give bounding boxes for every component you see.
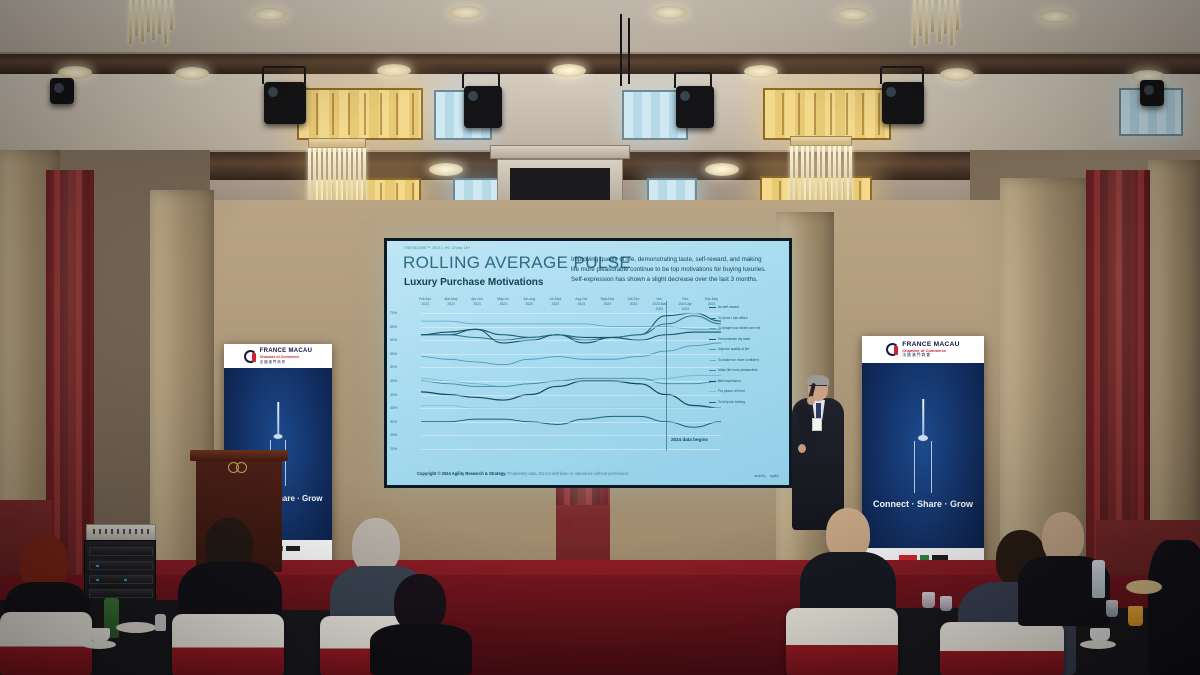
chart-gridline <box>421 327 721 328</box>
cci-logo-icon <box>886 343 899 356</box>
legend-swatch <box>709 328 716 329</box>
chart-y-tick: 45% <box>390 379 397 383</box>
logo-mark-text: amplify <box>754 474 765 478</box>
chart-x-tick: Oct-Dec2023 <box>619 297 647 307</box>
chair <box>0 612 92 675</box>
downlight <box>1038 10 1072 23</box>
slide-subtitle: Luxury Purchase Motivations <box>404 277 543 288</box>
bread-basket <box>1126 580 1162 594</box>
stage-light[interactable] <box>1140 80 1164 106</box>
banner-org-chinese: 法國澳門商會 <box>260 359 313 364</box>
drinking-glass <box>940 596 952 611</box>
water-bottle <box>1092 560 1105 598</box>
legend-item: Self-expression <box>709 379 775 383</box>
ceiling-light-panel <box>297 88 423 140</box>
downlight <box>552 64 586 77</box>
plate <box>116 622 156 633</box>
chart: Feb-Apr2023Mar-May2023Apr-Jun2023May-Jul… <box>405 297 721 449</box>
legend-label: Demonstrate my taste <box>718 337 750 341</box>
projection-screen: TRENDZINE™ 2024 | HG China 18+ ROLLING A… <box>384 238 792 488</box>
slide-summary-text: Improving quality of life, demonstrating… <box>571 255 769 285</box>
stage-light[interactable] <box>264 82 306 124</box>
audio-mixer[interactable] <box>86 524 156 541</box>
chart-y-tick: 40% <box>390 393 397 397</box>
chart-x-tick: Jun-Aug2023 <box>515 297 543 307</box>
podium-top <box>190 450 288 461</box>
chart-gridline <box>421 449 721 450</box>
chandelier-canopy <box>308 138 366 148</box>
sponsor-logo <box>286 546 300 551</box>
downlight <box>429 163 463 176</box>
stage-light[interactable] <box>50 78 74 104</box>
chart-x-tick: Mar-May2023 <box>437 297 465 307</box>
legend-label: Make life more pleasurable <box>718 368 758 372</box>
legend-label: Improve quality of life <box>718 347 749 351</box>
chart-x-tick: Aug-Oct2023 <box>567 297 595 307</box>
chart-gridline <box>421 422 721 423</box>
legend-label: To show I can afford <box>718 316 747 320</box>
downlight <box>653 6 687 19</box>
chart-x-tick: Jul-Sept2023 <box>541 297 569 307</box>
chandelier-canopy <box>790 136 852 146</box>
legend-swatch <box>709 360 716 361</box>
legend-item: To make me more confident <box>709 358 775 362</box>
legend-swatch <box>709 370 716 371</box>
stage-light[interactable] <box>676 86 714 128</box>
banner-right: FRANCE MACAU Chamber of Commerce 法國澳門商會 … <box>862 336 984 586</box>
downlight <box>253 8 287 21</box>
legend-swatch <box>709 349 716 350</box>
slide-eyebrow: TRENDZINE™ 2024 | HG China 18+ <box>404 246 470 250</box>
chart-x-tick: Feb-Apr2023 <box>411 297 439 307</box>
chart-gridline <box>421 381 721 382</box>
downlight <box>836 8 870 21</box>
chart-x-tick: Sept-Nov2023 <box>593 297 621 307</box>
chart-gridline <box>421 354 721 355</box>
legend-label: As self-reward <box>718 305 739 309</box>
banner-org-block: FRANCE MACAU Chamber of Commerce 法國澳門商會 <box>902 341 959 358</box>
audience-head <box>1042 512 1084 562</box>
downlight <box>744 65 778 78</box>
chart-gridline <box>421 367 721 368</box>
slide-content: TRENDZINE™ 2024 | HG China 18+ ROLLING A… <box>387 241 789 485</box>
chart-x-tick: Dec2023-Apr2024 <box>671 297 699 311</box>
chart-gridline <box>421 395 721 396</box>
drinking-glass <box>922 592 935 608</box>
downlight <box>449 6 483 19</box>
chart-y-tick: 25% <box>390 433 397 437</box>
stage-light[interactable] <box>464 86 502 128</box>
legend-swatch <box>709 402 716 403</box>
saucer <box>82 640 116 649</box>
banner-tagline: Connect · Share · Grow <box>862 499 984 509</box>
legend-label: Self-expression <box>718 379 741 383</box>
chart-x-tick: Nov2023-Mar2024 <box>645 297 673 311</box>
legend-item: For peace of mind <box>709 389 775 393</box>
slide-logo: amplify agility <box>754 474 779 478</box>
downlight <box>705 163 739 176</box>
chart-y-tick: 20% <box>390 447 397 451</box>
chart-y-tick: 70% <box>390 311 397 315</box>
chart-y-tick: 35% <box>390 406 397 410</box>
chandelier <box>129 0 173 44</box>
legend-swatch <box>709 339 716 340</box>
chart-series-line <box>421 378 721 386</box>
banner-org-block: FRANCE MACAU Chamber of Commerce 法國澳門商會 <box>260 348 313 364</box>
logo-text: agility <box>770 474 779 478</box>
legend-item: Demonstrate my taste <box>709 337 775 341</box>
legend-item: Make life more pleasurable <box>709 368 775 372</box>
banner-artwork: Connect · Share · Grow <box>862 363 984 586</box>
chair <box>786 608 898 675</box>
chart-x-axis-labels: Feb-Apr2023Mar-May2023Apr-Jun2023May-Jul… <box>405 297 721 313</box>
chart-y-tick: 50% <box>390 365 397 369</box>
drinking-glass <box>1106 600 1118 617</box>
chart-gridline <box>421 340 721 341</box>
projector-mount <box>490 145 630 159</box>
chart-y-tick: 60% <box>390 338 397 342</box>
chandelier-crystals <box>913 0 959 46</box>
chart-gridline <box>421 313 721 314</box>
legend-label: To help me belong <box>718 400 745 404</box>
ceiling-slab <box>0 74 1200 152</box>
banner-header: FRANCE MACAU Chamber of Commerce 法國澳門商會 <box>224 344 332 368</box>
legend-item: To show I can afford <box>709 316 775 320</box>
chart-y-tick: 55% <box>390 352 397 356</box>
chart-legend: As self-rewardTo show I can affordTo sha… <box>709 305 775 410</box>
copyright-rest: Proprietary data. Do not distribute or r… <box>506 471 629 476</box>
banner-header: FRANCE MACAU Chamber of Commerce 法國澳門商會 <box>862 336 984 363</box>
speaker-hand <box>807 396 815 405</box>
chart-divider-line <box>666 301 667 451</box>
conference-room-photo: TRENDZINE™ 2024 | HG China 18+ ROLLING A… <box>0 0 1200 675</box>
downlight <box>175 67 209 80</box>
legend-label: To shape how others see me <box>718 326 760 330</box>
slide-copyright: Copyright © 2024 Agility Research & Stra… <box>417 471 629 476</box>
banner-org-chinese: 法國澳門商會 <box>902 353 959 358</box>
legend-item: Improve quality of life <box>709 347 775 351</box>
podium-emblem-icon <box>228 462 250 473</box>
legend-swatch <box>709 307 716 308</box>
chart-x-tick: Apr-Jun2023 <box>463 297 491 307</box>
audience-torso <box>1148 540 1200 675</box>
chart-gridline <box>421 408 721 409</box>
chair <box>172 614 284 675</box>
chart-annotation: 2024 data begins <box>671 437 708 442</box>
cci-logo-icon <box>244 350 257 363</box>
stage-light[interactable] <box>882 82 924 124</box>
juice-glass <box>1128 606 1143 626</box>
ceiling-light-panel <box>763 88 891 140</box>
copyright-bold: Copyright © 2024 Agility Research & Stra… <box>417 471 506 476</box>
chart-plot-area: 2024 data begins <box>421 313 721 449</box>
saucer <box>1080 640 1116 649</box>
legend-label: For peace of mind <box>718 389 745 393</box>
creamer-jug <box>155 614 166 631</box>
downlight <box>377 64 411 77</box>
legend-item: To help me belong <box>709 400 775 404</box>
downlight <box>940 68 974 81</box>
lanyard-badge <box>812 418 822 431</box>
speaker-hand <box>798 444 806 453</box>
chandelier <box>913 0 959 46</box>
legend-swatch <box>709 391 716 392</box>
legend-swatch <box>709 318 716 319</box>
legend-item: As self-reward <box>709 305 775 309</box>
banner-org-name: FRANCE MACAU <box>902 341 959 348</box>
ceiling-slab <box>0 0 1200 54</box>
chandelier-crystals <box>129 0 173 44</box>
audience-torso <box>370 624 472 675</box>
chart-x-tick: May-Jul2023 <box>489 297 517 307</box>
legend-swatch <box>709 381 716 382</box>
legend-label: To make me more confident <box>718 358 759 362</box>
chair <box>940 622 1064 675</box>
chart-y-tick: 30% <box>390 420 397 424</box>
chart-y-tick: 65% <box>390 325 397 329</box>
banner-org-name: FRANCE MACAU <box>260 348 313 355</box>
legend-item: To shape how others see me <box>709 326 775 330</box>
